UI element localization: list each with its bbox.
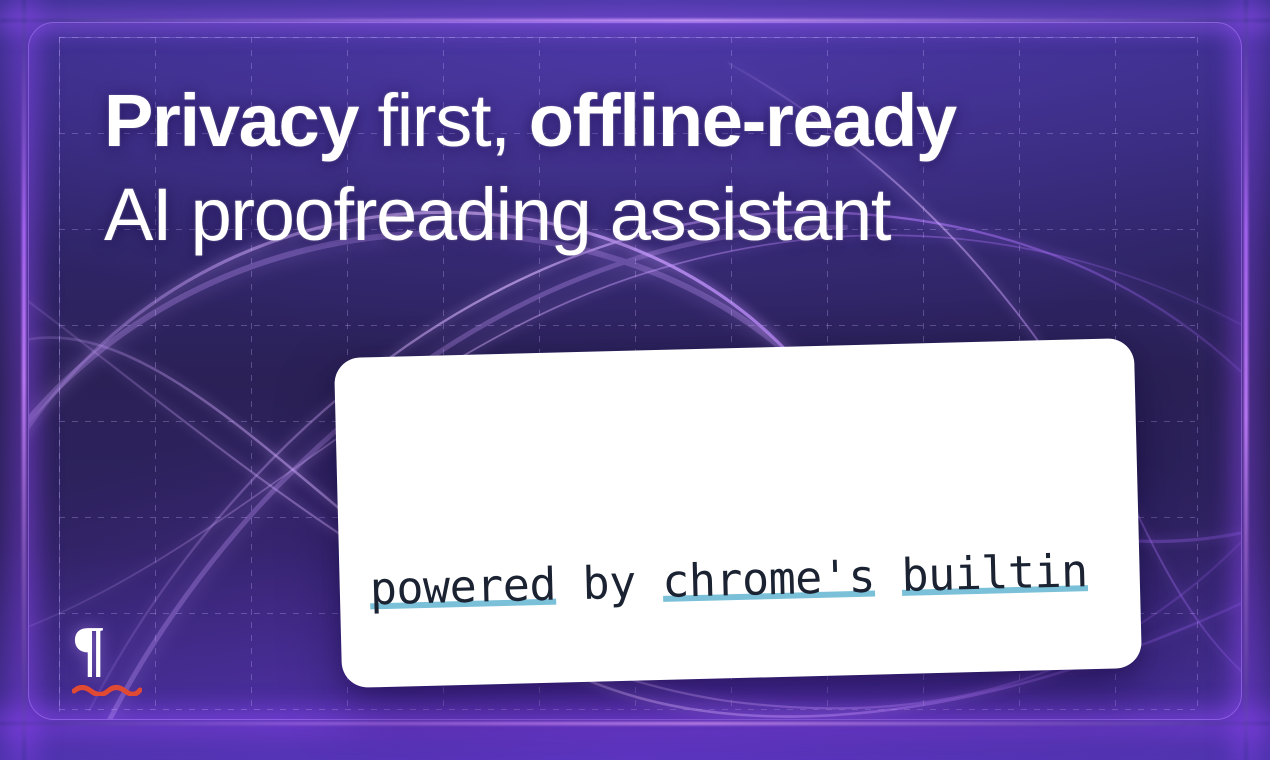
card-text-segment: by — [555, 555, 663, 611]
red-squiggle-icon — [72, 684, 142, 696]
card-text-flagged-blue[interactable]: powered — [369, 558, 556, 616]
headline-line-1: Privacy first, offline-ready — [104, 74, 1154, 168]
pilcrow-icon: ¶ — [72, 624, 152, 674]
promo-banner: Privacy first, offline-ready AI proofrea… — [0, 0, 1270, 760]
card-text-segment — [874, 549, 902, 603]
headline-word-first: first, — [358, 79, 528, 162]
headline-word-privacy: Privacy — [104, 79, 358, 162]
page-title: Privacy first, offline-ready AI proofrea… — [104, 74, 1154, 262]
headline-line-2: AI proofreading assistant — [104, 168, 1154, 262]
card-line-1: powered by chrome's builtin — [369, 535, 1103, 625]
card-text-flagged-blue[interactable]: chrome's — [662, 550, 876, 608]
right-glow-line — [1244, 0, 1248, 760]
card-text-flagged-blue[interactable]: builtin — [901, 544, 1088, 602]
card-text-block: powered by chrome's builtin ai, your key… — [365, 393, 1117, 760]
brand-logo: ¶ — [72, 624, 152, 698]
card-line-2: ai, your key-stroeks never — [374, 748, 1108, 760]
proofreading-card[interactable]: powered by chrome's builtin ai, your key… — [334, 338, 1142, 688]
left-glow-line — [22, 0, 26, 760]
headline-word-offline-ready: offline-ready — [529, 79, 956, 162]
